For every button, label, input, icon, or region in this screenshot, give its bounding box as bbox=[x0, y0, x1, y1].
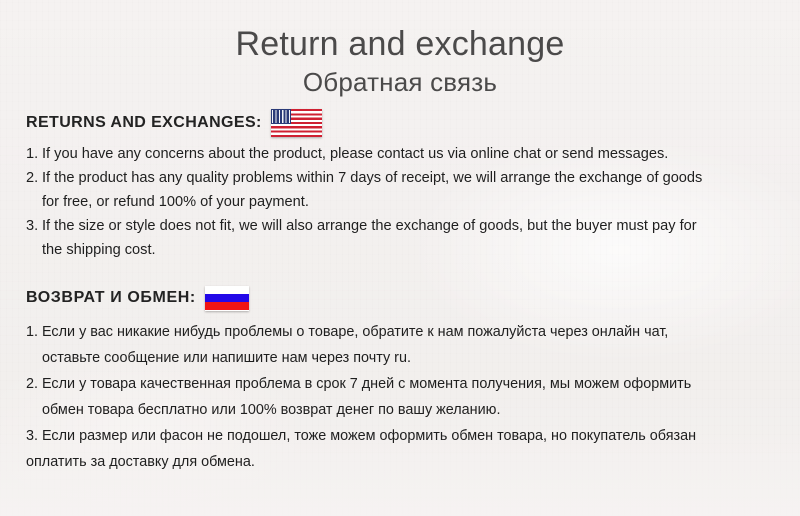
section-heading-label-english: RETURNS AND EXCHANGES: bbox=[26, 114, 262, 132]
list-item: 1. If you have any concerns about the pr… bbox=[26, 142, 774, 166]
list-item-number: 2. bbox=[26, 371, 42, 397]
list-russian: 1. Если у вас никакие нибудь проблемы о … bbox=[26, 319, 774, 475]
page-title-english: Return and exchange bbox=[0, 24, 800, 64]
list-item-continuation-text: оплатить за доставку для обмена. bbox=[26, 449, 255, 475]
list-item-number: 1. bbox=[26, 142, 42, 166]
list-item-continuation: оплатить за доставку для обмена. bbox=[26, 449, 774, 475]
list-item-text: If the product has any quality problems … bbox=[42, 166, 774, 190]
section-returns-and-exchanges-english: RETURNS AND EXCHANGES: 1. If you have an… bbox=[26, 108, 774, 262]
list-item-continuation: the shipping cost. bbox=[42, 238, 774, 262]
list-item: 1. Если у вас никакие нибудь проблемы о … bbox=[26, 319, 774, 345]
list-item-number: 3. bbox=[26, 214, 42, 238]
list-item-text: Если размер или фасон не подошел, тоже м… bbox=[42, 423, 774, 449]
page-title-russian: Обратная связь bbox=[0, 66, 800, 98]
section-heading-russian: ВОЗВРАТ И ОБМЕН: bbox=[26, 283, 774, 313]
list-item-continuation-text: for free, or refund 100% of your payment… bbox=[42, 190, 309, 214]
list-item-continuation-text: обмен товара бесплатно или 100% возврат … bbox=[42, 397, 500, 423]
list-item-continuation: for free, or refund 100% of your payment… bbox=[42, 190, 774, 214]
list-item-text: If the size or style does not fit, we wi… bbox=[42, 214, 774, 238]
us-flag-stars bbox=[272, 110, 290, 123]
list-item: 3. If the size or style does not fit, we… bbox=[26, 214, 774, 238]
return-and-exchange-page: Return and exchange Обратная связь RETUR… bbox=[0, 0, 800, 516]
list-item-text: If you have any concerns about the produ… bbox=[42, 142, 774, 166]
list-item: 2. Если у товара качественная проблема в… bbox=[26, 371, 774, 397]
list-item-text: Если у товара качественная проблема в ср… bbox=[42, 371, 774, 397]
us-flag-canton bbox=[271, 109, 291, 124]
list-item-number: 1. bbox=[26, 319, 42, 345]
ru-flag-icon bbox=[205, 286, 249, 311]
page-title: Return and exchange Обратная связь bbox=[0, 24, 800, 98]
ru-flag-band-white bbox=[205, 286, 249, 294]
list-item-text: Если у вас никакие нибудь проблемы о тов… bbox=[42, 319, 774, 345]
list-item-continuation-text: the shipping cost. bbox=[42, 238, 156, 262]
list-item-continuation-text: оставьте сообщение или напишите нам чере… bbox=[42, 345, 411, 371]
list-item-number: 3. bbox=[26, 423, 42, 449]
us-flag-icon bbox=[271, 109, 322, 137]
section-heading-english: RETURNS AND EXCHANGES: bbox=[26, 108, 774, 138]
section-heading-label-russian: ВОЗВРАТ И ОБМЕН: bbox=[26, 289, 196, 307]
list-item-continuation: оставьте сообщение или напишите нам чере… bbox=[42, 345, 774, 371]
list-item-number: 2. bbox=[26, 166, 42, 190]
ru-flag-band-red bbox=[205, 302, 249, 310]
list-item: 2. If the product has any quality proble… bbox=[26, 166, 774, 190]
list-item-continuation: обмен товара бесплатно или 100% возврат … bbox=[42, 397, 774, 423]
ru-flag-band-blue bbox=[205, 294, 249, 302]
section-returns-and-exchanges-russian: ВОЗВРАТ И ОБМЕН: 1. Если у вас никакие н… bbox=[26, 283, 774, 475]
list-item: 3. Если размер или фасон не подошел, тож… bbox=[26, 423, 774, 449]
list-english: 1. If you have any concerns about the pr… bbox=[26, 142, 774, 262]
